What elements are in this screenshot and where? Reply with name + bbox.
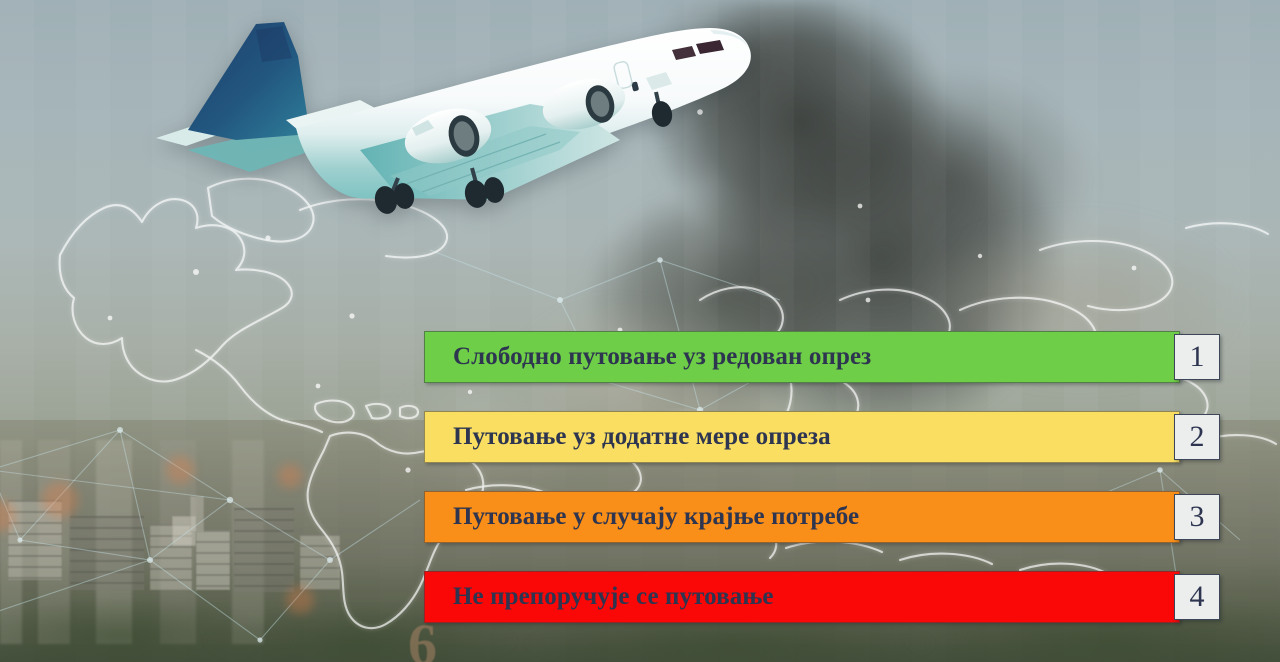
level-number-box-4: 4 <box>1174 574 1220 620</box>
advisory-bar-level-1[interactable]: Слободно путовање уз редован опрез <box>424 331 1180 383</box>
airplane-illustration <box>60 0 760 250</box>
screenshot-stage: 6 <box>0 0 1280 662</box>
advisory-bar-level-2[interactable]: Путовање уз додатне мере опреза <box>424 411 1180 463</box>
advisory-row[interactable]: Не препоручује се путовање 4 <box>424 571 1220 623</box>
advisory-label-level-3: Путовање у случају крајње потребе <box>425 503 859 531</box>
level-number-box-2: 2 <box>1174 414 1220 460</box>
advisory-row[interactable]: Путовање уз додатне мере опреза 2 <box>424 411 1220 463</box>
advisory-bar-level-4[interactable]: Не препоручује се путовање <box>424 571 1180 623</box>
advisory-bar-level-3[interactable]: Путовање у случају крајње потребе <box>424 491 1180 543</box>
advisory-label-level-2: Путовање уз додатне мере опреза <box>425 423 831 451</box>
advisory-row[interactable]: Слободно путовање уз редован опрез 1 <box>424 331 1220 383</box>
advisory-label-level-4: Не препоручује се путовање <box>425 583 774 611</box>
advisory-level-list: Слободно путовање уз редован опрез 1 Пут… <box>424 331 1220 623</box>
level-number-box-3: 3 <box>1174 494 1220 540</box>
advisory-row[interactable]: Путовање у случају крајње потребе 3 <box>424 491 1220 543</box>
level-number-box-1: 1 <box>1174 334 1220 380</box>
advisory-label-level-1: Слободно путовање уз редован опрез <box>425 343 871 371</box>
